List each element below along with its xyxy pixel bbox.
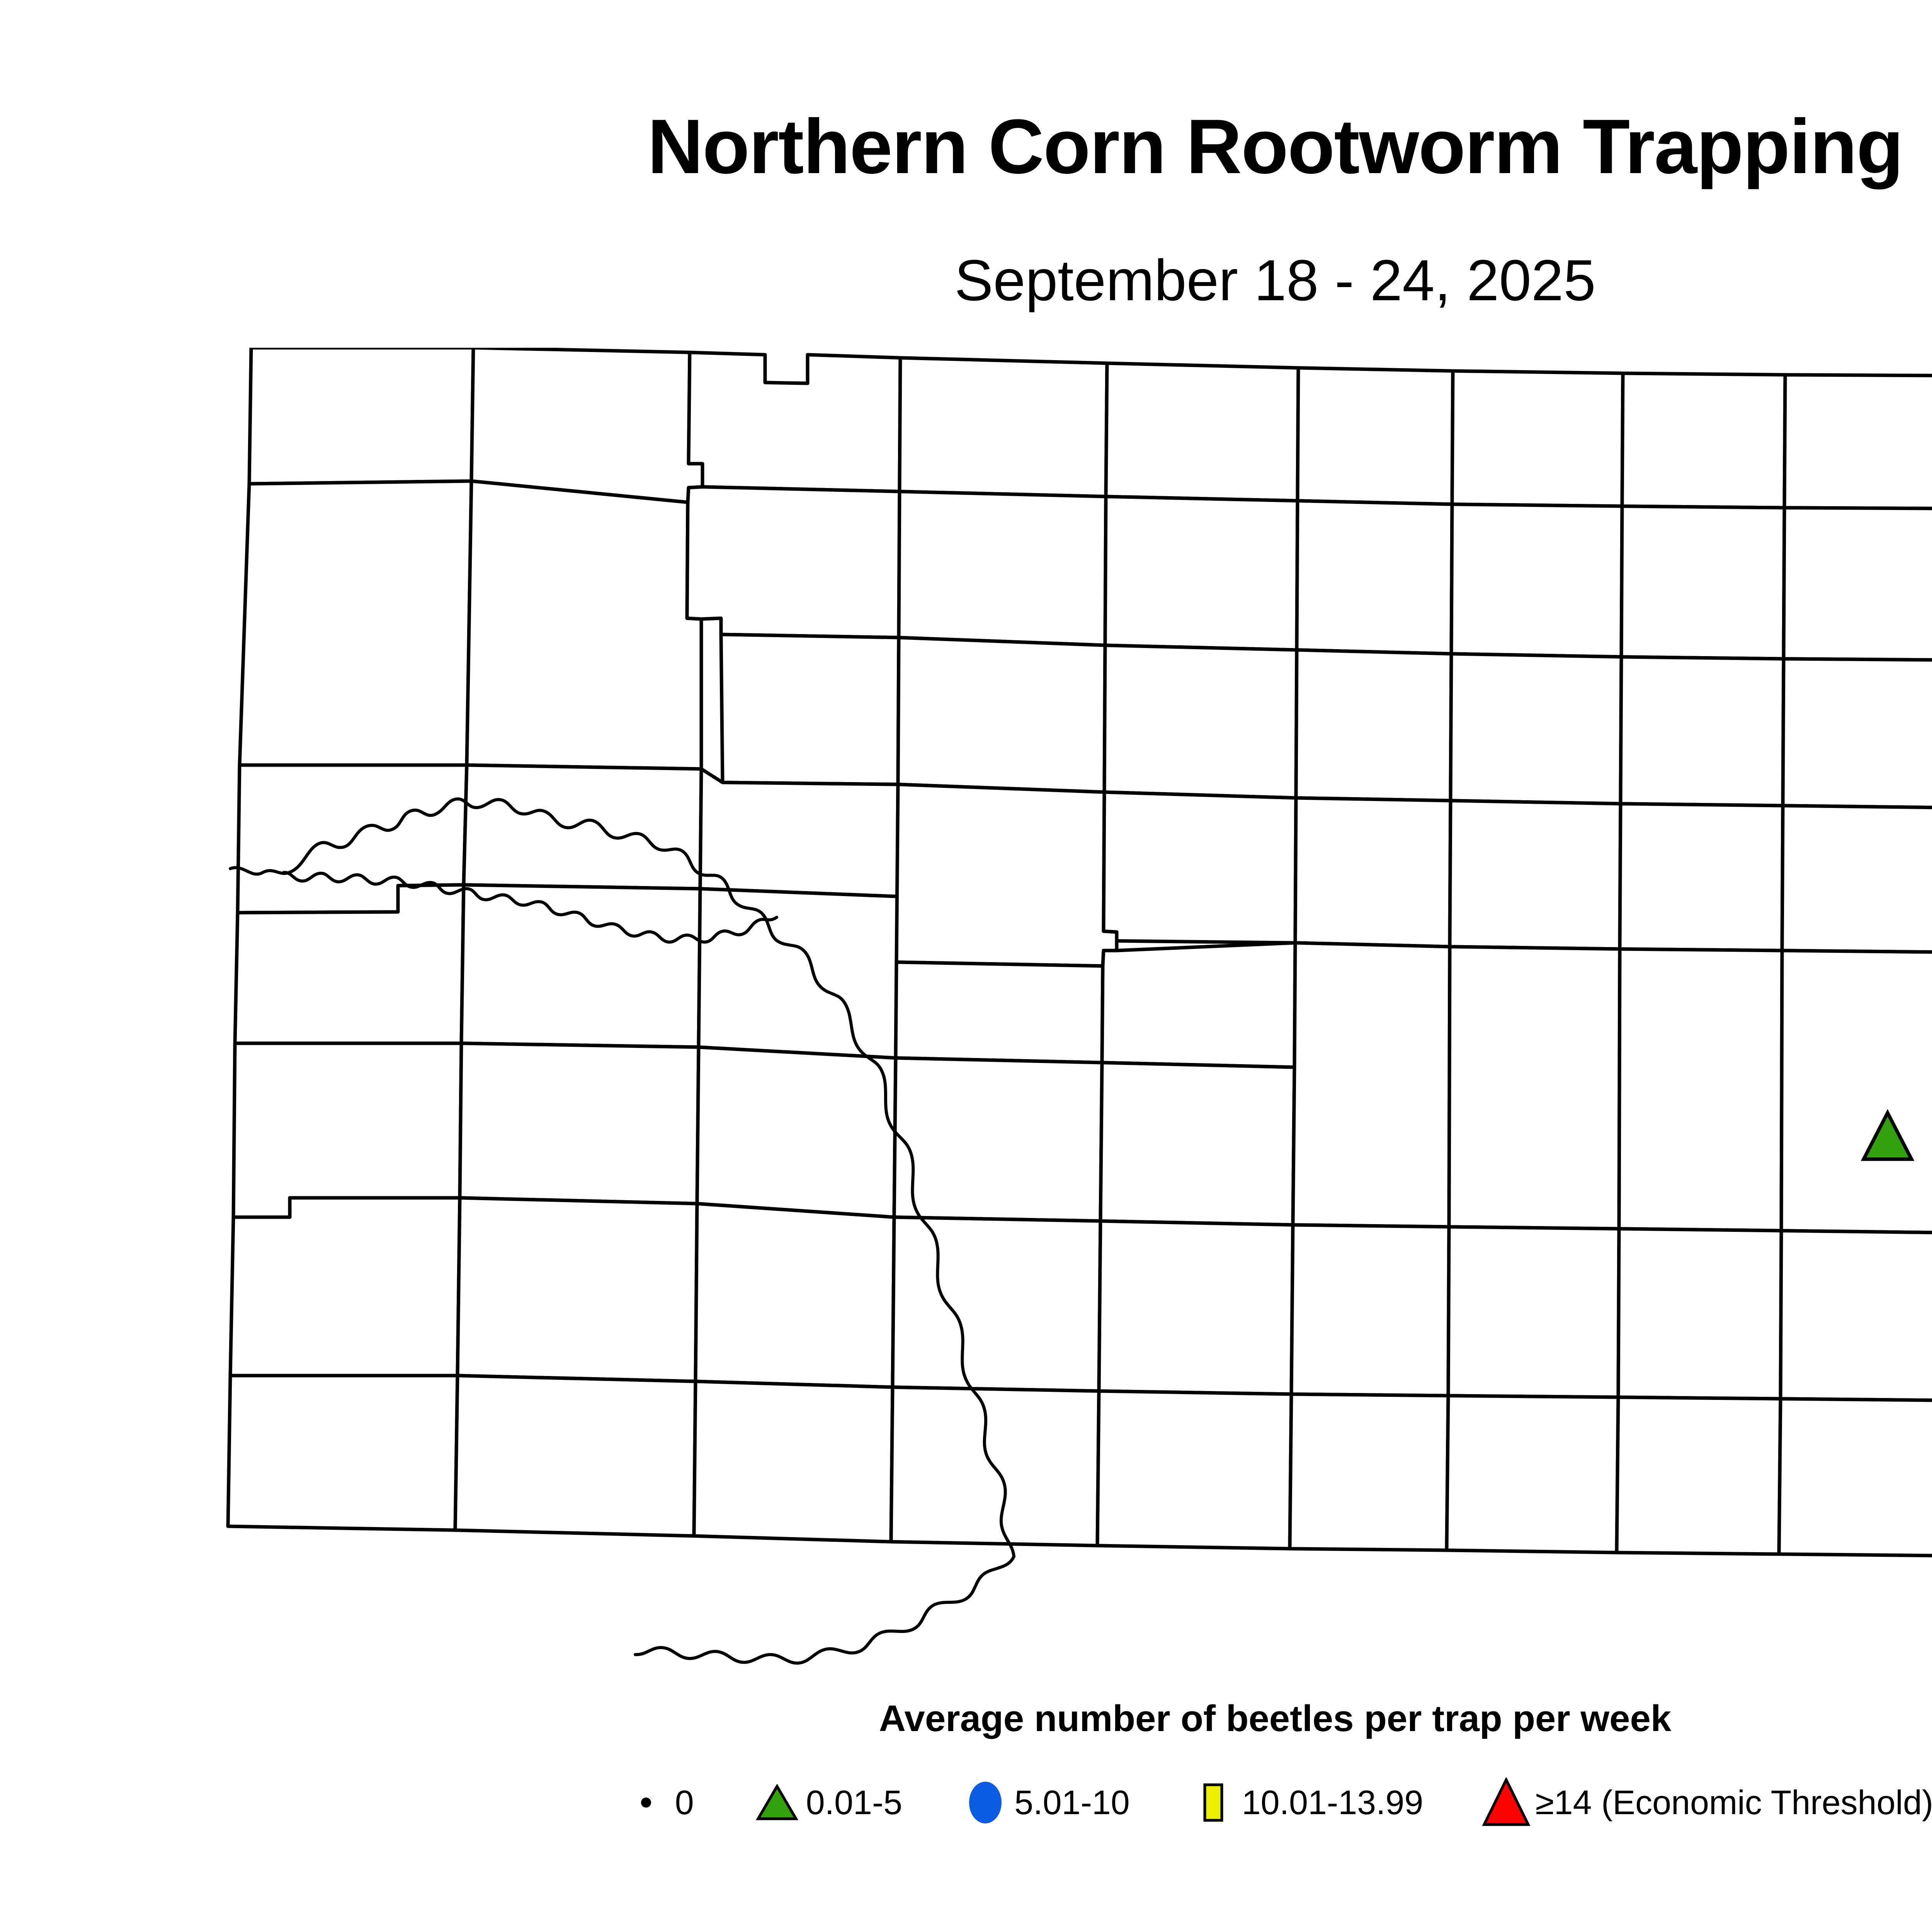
legend-item-threshold[interactable]: ≥14 (Economic Threshold) xyxy=(1477,1777,1932,1828)
legend-label-threshold: ≥14 (Economic Threshold) xyxy=(1535,1786,1932,1820)
page-title: Northern Corn Rootworm Trapping xyxy=(0,108,1932,185)
dot-icon xyxy=(617,1798,675,1808)
legend-item-high[interactable]: 10.01-13.99 xyxy=(1184,1779,1478,1826)
triangle-red-icon xyxy=(1477,1777,1535,1828)
legend-label-high: 10.01-13.99 xyxy=(1242,1786,1478,1820)
circle-blue-icon xyxy=(956,1779,1014,1826)
page-subtitle: September 18 - 24, 2025 xyxy=(0,251,1932,309)
north-dakota-county-map[interactable] xyxy=(216,348,1932,1669)
legend-item-mid[interactable]: 5.01-10 xyxy=(956,1779,1184,1826)
legend-label-low: 0.01-5 xyxy=(806,1786,957,1820)
triangle-green-icon xyxy=(748,1784,806,1821)
legend: 0 0.01-5 5.01-10 10.01-13.99 ≥14 (Econom xyxy=(0,1777,1932,1828)
square-yellow-icon xyxy=(1184,1779,1242,1826)
map-page: Northern Corn Rootworm Trapping Septembe… xyxy=(0,0,1932,1932)
legend-item-zero[interactable]: 0 xyxy=(617,1786,748,1820)
county-outlines xyxy=(228,348,1932,1559)
legend-title: Average number of beetles per trap per w… xyxy=(0,1700,1932,1737)
legend-item-low[interactable]: 0.01-5 xyxy=(748,1784,957,1821)
legend-label-mid: 5.01-10 xyxy=(1014,1786,1184,1820)
legend-label-zero: 0 xyxy=(675,1786,748,1820)
